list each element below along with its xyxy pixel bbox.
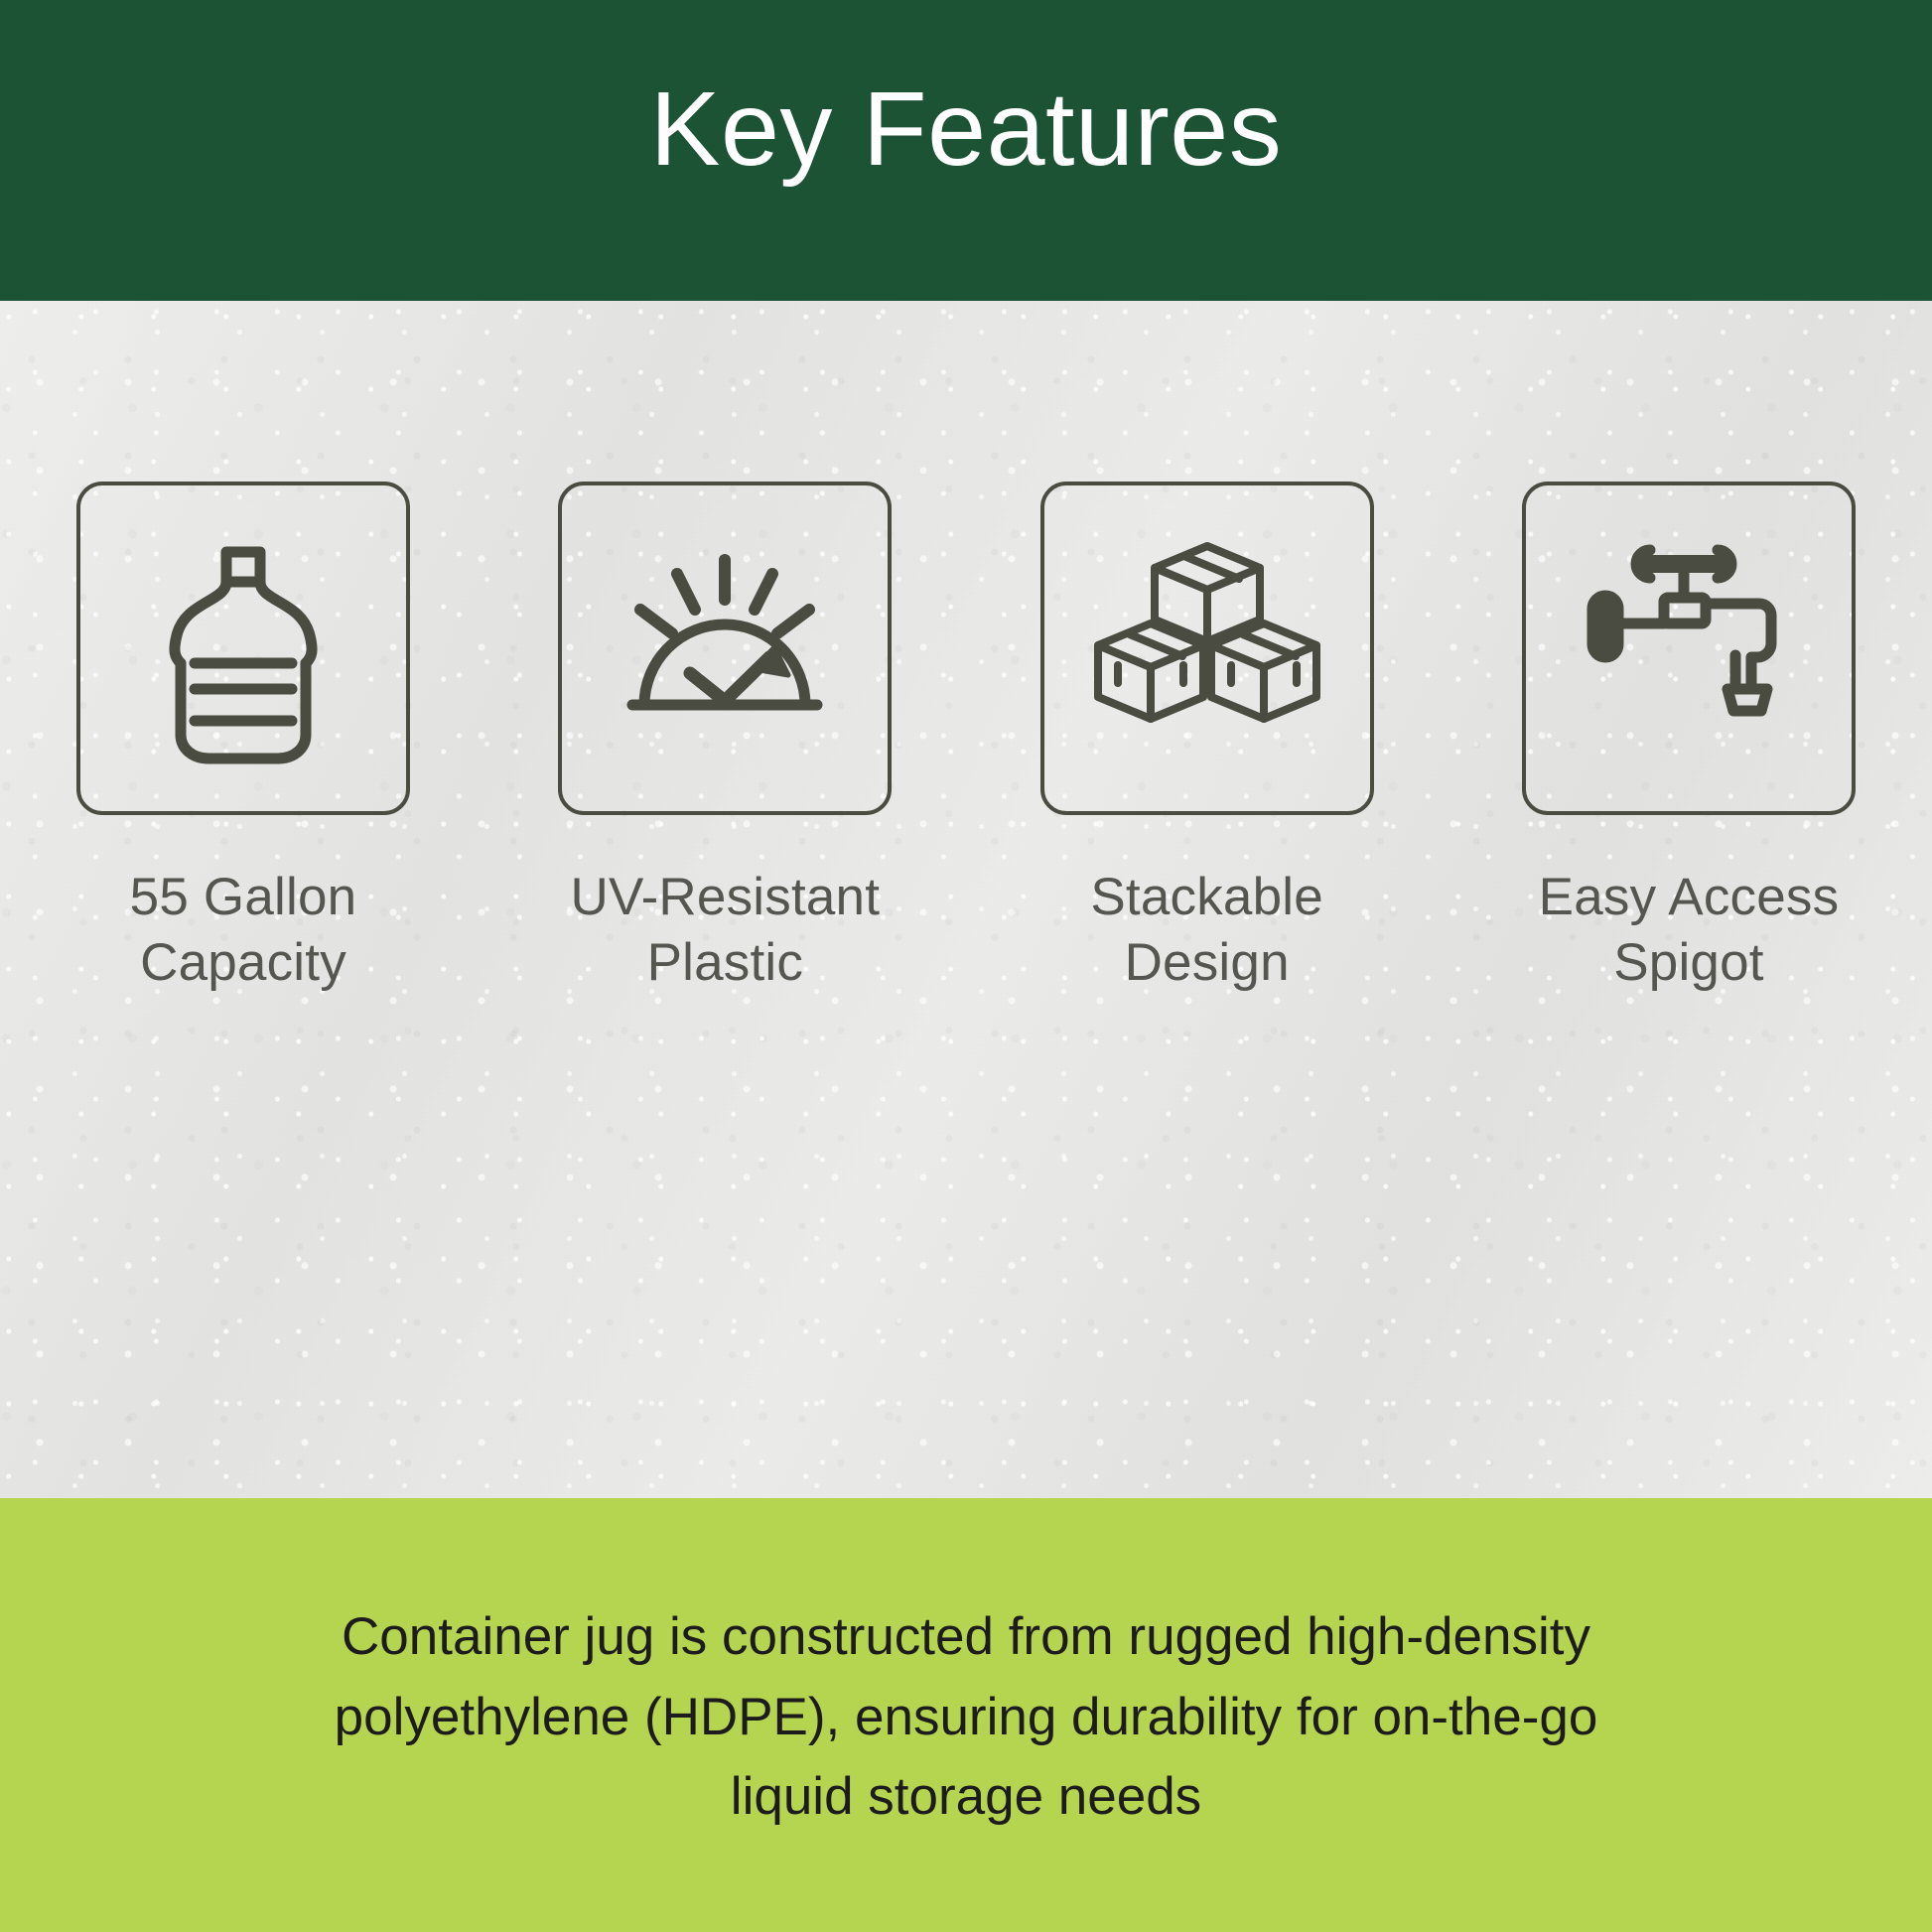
header-band: Key Features xyxy=(0,0,1932,301)
icon-card-stackable[interactable] xyxy=(1040,482,1374,815)
feature-label-spigot: Easy Access Spigot xyxy=(1539,865,1840,995)
stacked-boxes-icon xyxy=(1083,524,1331,772)
feature-item-spigot[interactable]: Easy Access Spigot xyxy=(1490,482,1887,995)
features-section: 55 Gallon Capacity xyxy=(0,301,1932,1498)
feature-label-capacity: 55 Gallon Capacity xyxy=(130,865,357,995)
spigot-faucet-icon xyxy=(1565,524,1813,772)
key-features-infographic: Key Features xyxy=(0,0,1932,1932)
feature-label-uv-resistant: UV-Resistant Plastic xyxy=(570,865,880,995)
feature-label-stackable: Stackable Design xyxy=(1090,865,1323,995)
footer-band: Container jug is constructed from rugged… xyxy=(0,1498,1932,1932)
water-jug-icon xyxy=(119,524,367,772)
feature-item-stackable[interactable]: Stackable Design xyxy=(1009,482,1406,995)
icon-card-uv-resistant[interactable] xyxy=(558,482,892,815)
icon-card-spigot[interactable] xyxy=(1522,482,1856,815)
feature-item-uv-resistant[interactable]: UV-Resistant Plastic xyxy=(526,482,923,995)
uv-sun-icon xyxy=(601,524,849,772)
feature-item-capacity[interactable]: 55 Gallon Capacity xyxy=(45,482,442,995)
icon-card-capacity[interactable] xyxy=(76,482,410,815)
page-title: Key Features xyxy=(650,71,1282,188)
feature-grid: 55 Gallon Capacity xyxy=(0,482,1932,995)
footer-description: Container jug is constructed from rugged… xyxy=(291,1597,1641,1838)
